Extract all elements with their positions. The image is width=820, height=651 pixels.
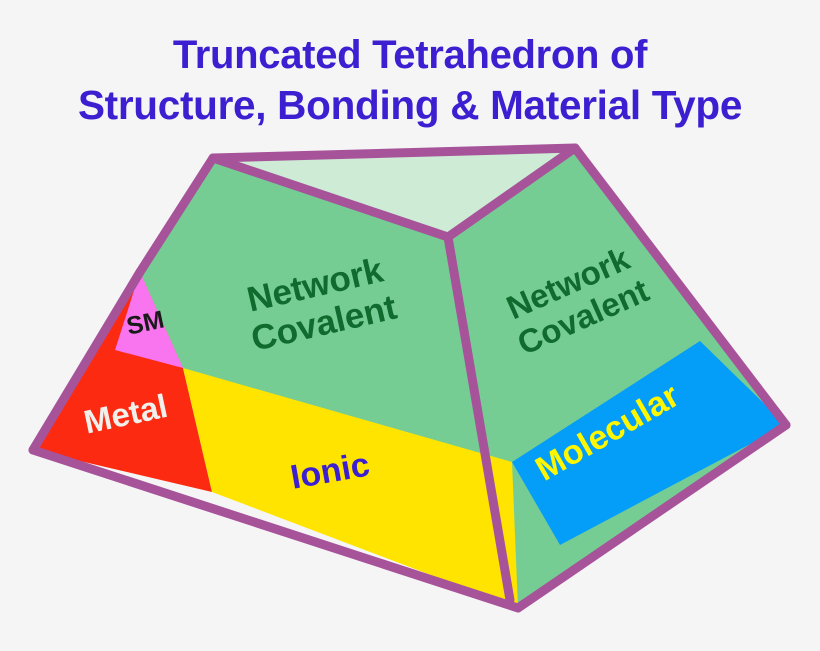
truncated-tetrahedron-diagram: NetworkCovalentNetworkCovalentMetalSMIon… (0, 0, 820, 651)
page-root: Truncated Tetrahedron of Structure, Bond… (0, 0, 820, 651)
